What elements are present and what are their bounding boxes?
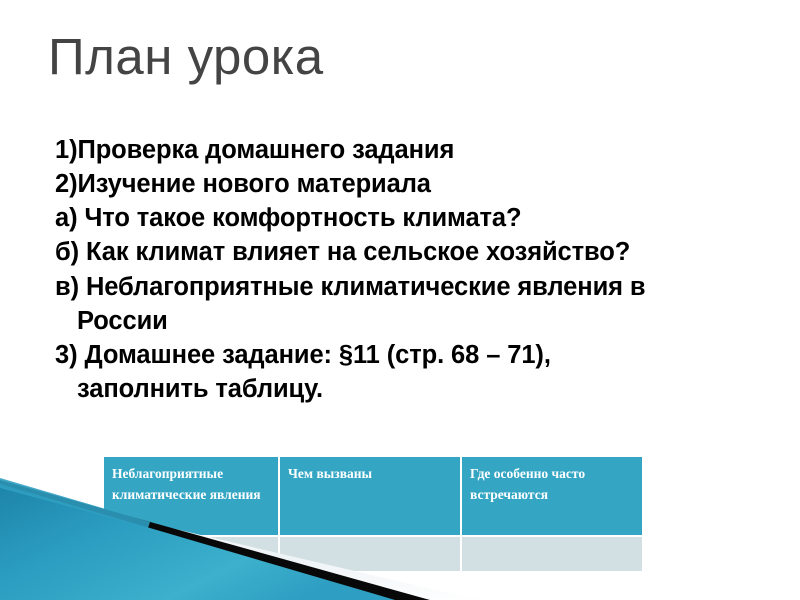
table-header-cell: Чем вызваны (280, 457, 460, 535)
table-row (104, 537, 642, 571)
list-item: 2)Изучение нового материала (55, 167, 755, 201)
list-item: б) Как климат влияет на сельское хозяйст… (55, 235, 755, 269)
list-item: 3) Домашнее задание: §11 (стр. 68 – 71), (55, 338, 755, 372)
list-item: 1)Проверка домашнего задания (55, 133, 755, 167)
table-header-row: Неблагоприятные климатические явления Че… (104, 457, 642, 535)
table-cell (280, 537, 460, 571)
table-cell (462, 537, 642, 571)
list-item-continuation: России (55, 304, 755, 338)
table-cell (104, 537, 278, 571)
homework-table: Неблагоприятные климатические явления Че… (102, 455, 644, 573)
list-item-continuation: заполнить таблицу. (55, 372, 755, 406)
table-header-cell: Где особенно часто встречаются (462, 457, 642, 535)
slide-canvas: План урока 1)Проверка домашнего задания … (0, 0, 800, 600)
list-item: в) Неблагоприятные климатические явления… (55, 270, 755, 304)
table-header-cell: Неблагоприятные климатические явления (104, 457, 278, 535)
page-title: План урока (48, 28, 324, 85)
list-item: а) Что такое комфортность климата? (55, 201, 755, 235)
lesson-plan-list: 1)Проверка домашнего задания 2)Изучение … (55, 133, 755, 406)
